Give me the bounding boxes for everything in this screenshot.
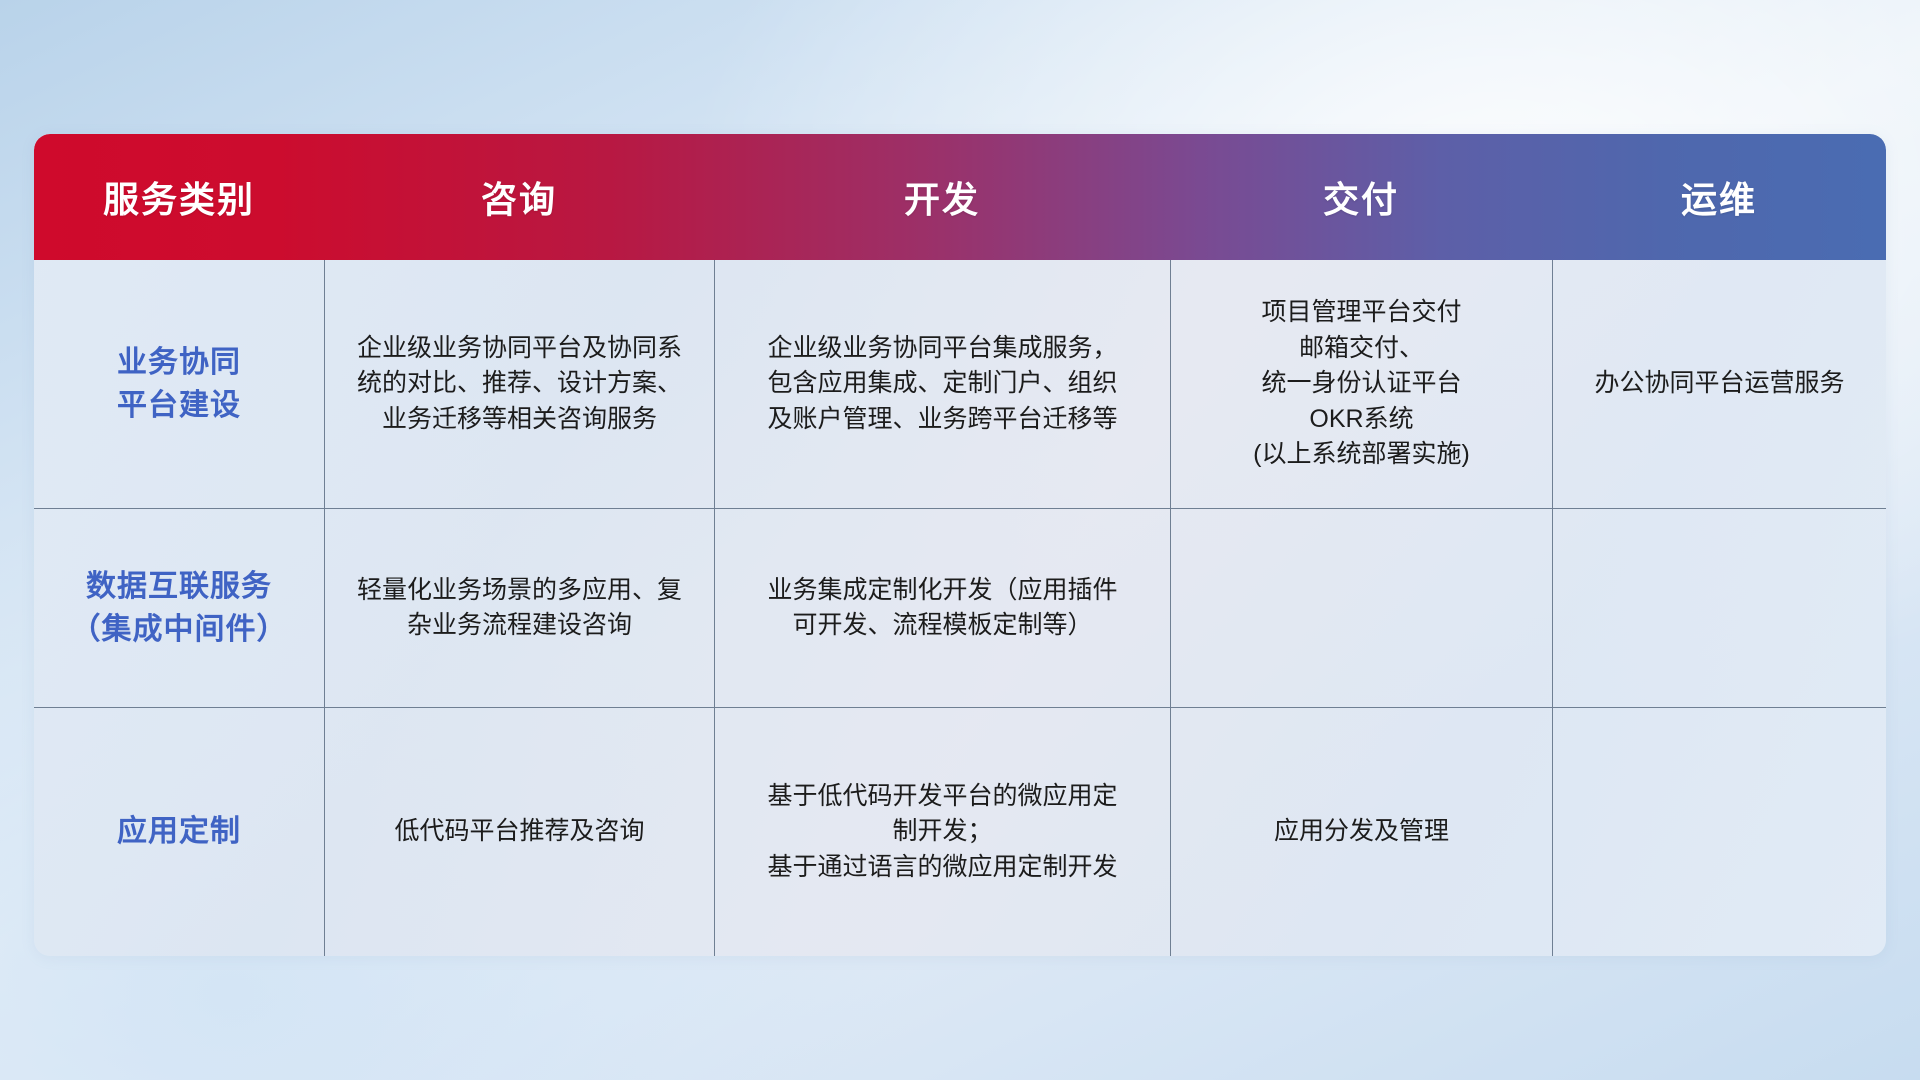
cell-development: 基于低代码开发平台的微应用定 制开发； 基于通过语言的微应用定制开发 [714,708,1170,956]
column-header-consulting: 咨询 [324,134,714,260]
cell-development: 企业级业务协同平台集成服务， 包含应用集成、定制门户、组织 及账户管理、业务跨平… [714,260,1170,508]
cell-delivery [1170,509,1552,707]
table-header-row: 服务类别 咨询 开发 交付 运维 [34,134,1886,260]
page-root: 服务类别 咨询 开发 交付 运维 业务协同 平台建设 企业级业务协同平台及协同系… [0,0,1920,1080]
cell-consulting: 低代码平台推荐及咨询 [324,708,714,956]
column-header-delivery: 交付 [1170,134,1552,260]
cell-delivery: 项目管理平台交付 邮箱交付、 统一身份认证平台 OKR系统 (以上系统部署实施) [1170,260,1552,508]
column-header-development: 开发 [714,134,1170,260]
category-text: 数据互联服务 （集成中间件） [71,565,288,652]
table-row: 业务协同 平台建设 企业级业务协同平台及协同系 统的对比、推荐、设计方案、 业务… [34,260,1886,508]
cell-consulting: 企业级业务协同平台及协同系 统的对比、推荐、设计方案、 业务迁移等相关咨询服务 [324,260,714,508]
cell-consulting: 轻量化业务场景的多应用、复 杂业务流程建设咨询 [324,509,714,707]
table-row: 数据互联服务 （集成中间件） 轻量化业务场景的多应用、复 杂业务流程建设咨询 业… [34,508,1886,707]
row-category-label: 业务协同 平台建设 [34,260,324,508]
row-category-label: 数据互联服务 （集成中间件） [34,509,324,707]
row-category-label: 应用定制 [34,708,324,956]
service-matrix-table: 服务类别 咨询 开发 交付 运维 业务协同 平台建设 企业级业务协同平台及协同系… [34,134,1886,956]
cell-operations: 办公协同平台运营服务 [1552,260,1886,508]
column-header-service-category: 服务类别 [34,134,324,260]
cell-delivery: 应用分发及管理 [1170,708,1552,956]
table-row: 应用定制 低代码平台推荐及咨询 基于低代码开发平台的微应用定 制开发； 基于通过… [34,707,1886,956]
category-text: 业务协同 平台建设 [117,341,241,428]
cell-operations [1552,708,1886,956]
cell-development: 业务集成定制化开发（应用插件 可开发、流程模板定制等） [714,509,1170,707]
column-header-operations: 运维 [1552,134,1886,260]
table-body: 业务协同 平台建设 企业级业务协同平台及协同系 统的对比、推荐、设计方案、 业务… [34,260,1886,956]
cell-operations [1552,509,1886,707]
category-text: 应用定制 [117,810,241,854]
